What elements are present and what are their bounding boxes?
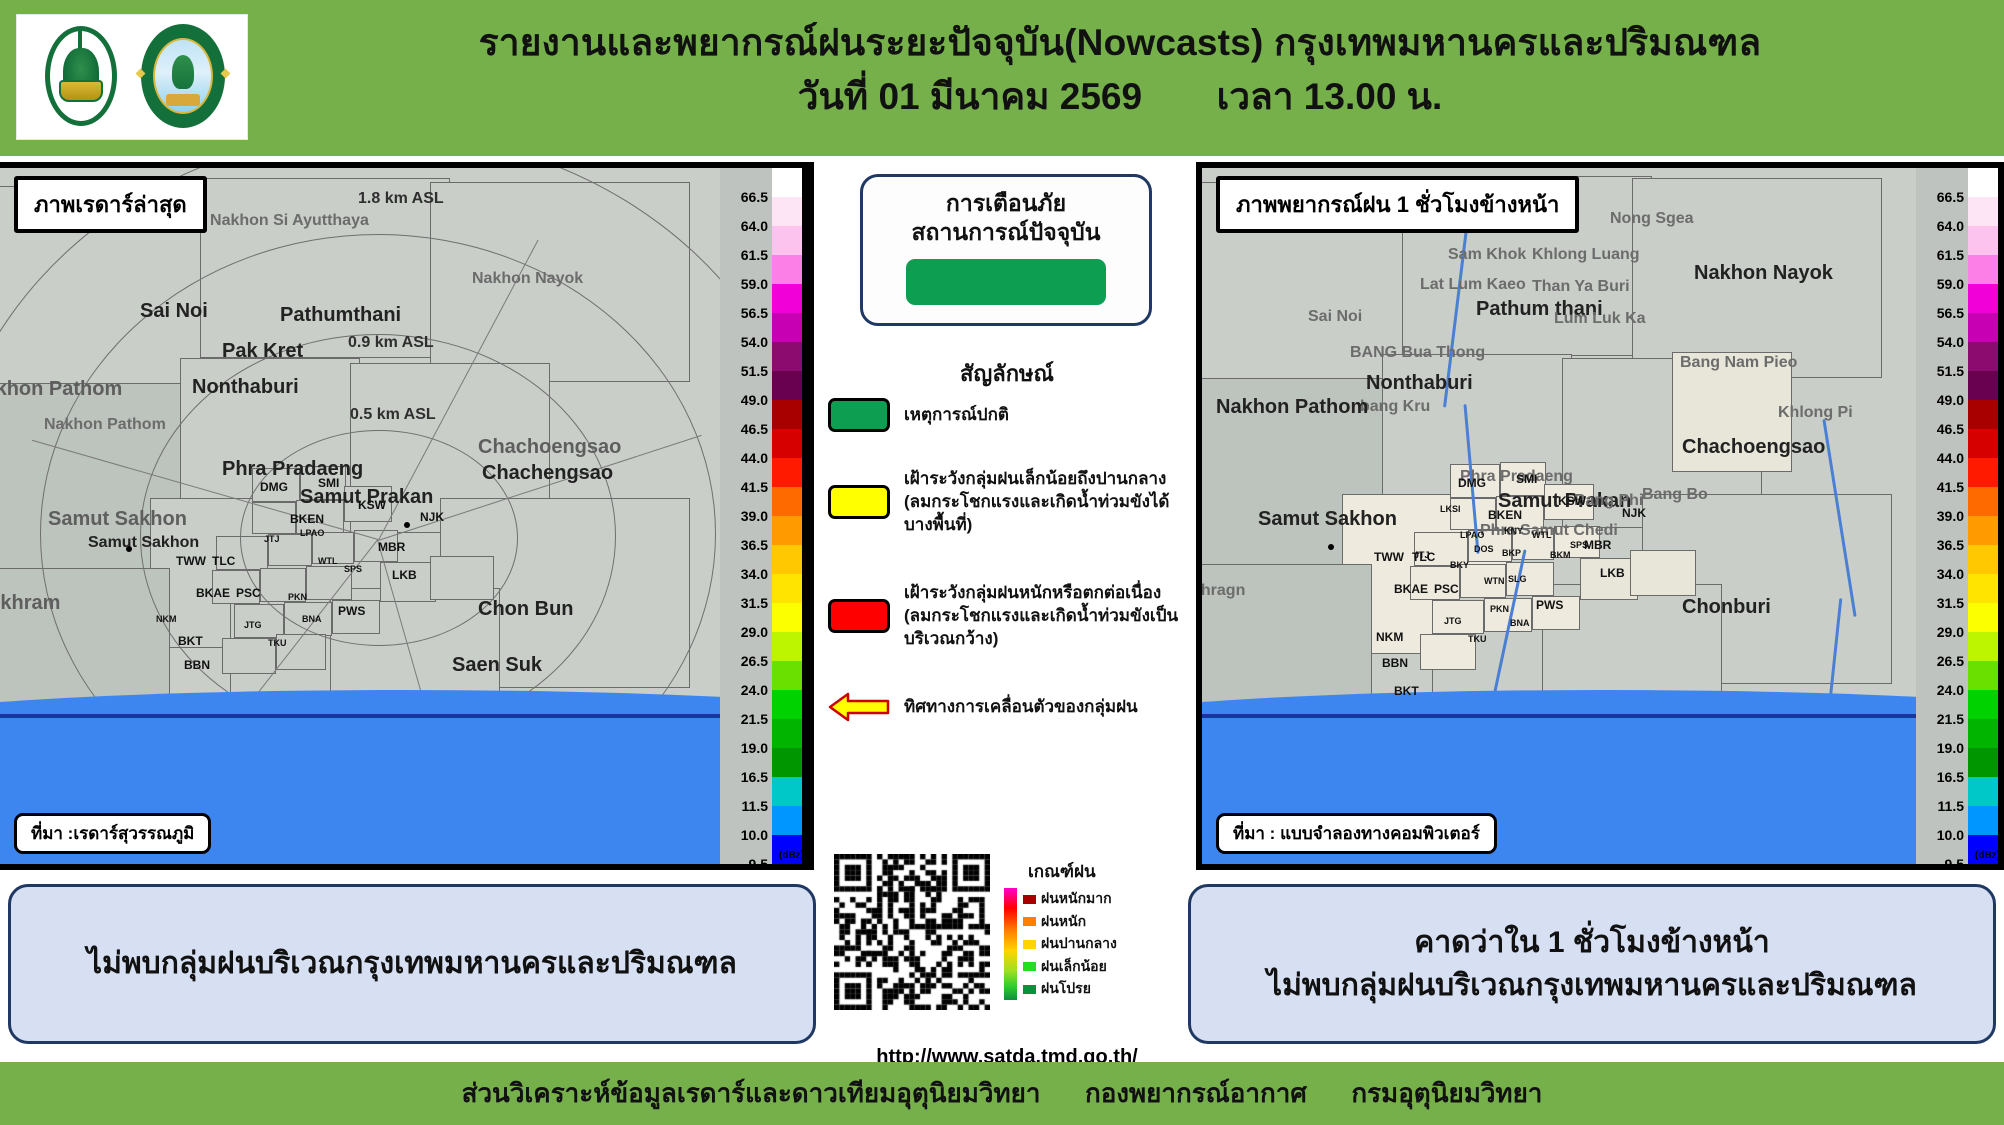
dbz-tick-label: 49.0 [1937, 392, 1964, 408]
dbz-tick-label: 59.0 [741, 276, 768, 292]
forecast-summary-box: คาดว่าใน 1 ชั่วโมงข้างหน้า ไม่พบกลุ่มฝนบ… [1188, 884, 1996, 1044]
dbz-color-band [1968, 545, 1998, 574]
place-label: Chonburi [1682, 596, 1771, 619]
rain-scale-items: ฝนหนักมาก ฝนหนัก ฝนปานกลาง [1023, 888, 1117, 1000]
radar-summary-text: ไม่พบกลุ่มฝนบริเวณกรุงเทพมหานครและปริมณฑ… [87, 942, 737, 986]
green-status-swatch [828, 398, 890, 432]
place-label: BANG Bua Thong [1350, 344, 1485, 362]
place-label: Saen Suk [452, 654, 542, 677]
radar-panel-caption: ภาพเรดาร์ล่าสุด [14, 176, 207, 233]
dbz-color-band [772, 371, 802, 400]
dbz-color-band [1968, 632, 1998, 661]
dbz-tick-label: 46.5 [1937, 421, 1964, 437]
dbz-tick-label: 26.5 [741, 653, 768, 669]
red-status-swatch [828, 599, 890, 633]
dbz-tick-label: 9.5 [749, 856, 768, 870]
district-code: TWW [1374, 550, 1404, 564]
dbz-color-band [772, 574, 802, 603]
place-label: Nakhon Nayok [472, 270, 583, 288]
district-code: SMI [318, 476, 339, 490]
district-code: NKM [1376, 630, 1403, 644]
rain-chip [1023, 985, 1036, 994]
district-code: WTL [1532, 530, 1552, 540]
dbz-tick-label: 61.5 [1937, 247, 1964, 263]
district-code: NKM [156, 614, 177, 624]
dbz-color-band [1968, 603, 1998, 632]
dbz-color-band [1968, 487, 1998, 516]
dbz-tick-label: 11.5 [1938, 798, 1964, 814]
coastline [1202, 714, 2004, 718]
dbz-tick-label: 21.5 [1937, 711, 1964, 727]
dbz-tick-label: 41.5 [1937, 479, 1964, 495]
district-code: TWW [176, 554, 206, 568]
dbz-tick-label: 44.0 [1937, 450, 1964, 466]
dbz-tick-label: 39.0 [1937, 508, 1964, 524]
dbz-color-band [1968, 777, 1998, 806]
district-code: BKY [1450, 560, 1469, 570]
dbz-tick-label: 41.5 [741, 479, 768, 495]
place-label: Nakhon Nayok [1694, 262, 1833, 285]
place-label: Samut Sakhon [88, 534, 199, 552]
legend-item-label: เฝ้าระวังกลุ่มฝนหนักหรือตกต่อเนื่อง (ลมก… [904, 582, 1192, 651]
dbz-tick-label: 29.0 [741, 624, 768, 640]
dbz-tick-label: 64.0 [1937, 218, 1964, 234]
district-code: LPAO [1460, 530, 1484, 540]
dbz-color-band [772, 545, 802, 574]
district-code: DMG [260, 480, 288, 494]
district-code: BNA [1510, 618, 1530, 628]
place-label: Pathumthani [280, 304, 401, 327]
district-code: WTN [1484, 576, 1505, 586]
rain-level-label: ฝนปานกลาง [1041, 933, 1117, 955]
dbz-color-band [1968, 806, 1998, 835]
page-footer: ส่วนวิเคราะห์ข้อมูลเรดาร์และดาวเทียมอุตุ… [0, 1062, 2004, 1125]
district-code: SPS [344, 564, 362, 574]
district-code: TKU [1468, 634, 1487, 644]
dbz-tick-labels: 66.564.061.559.056.554.051.549.046.544.0… [720, 168, 772, 864]
page-title: รายงานและพยากรณ์ฝนระยะปัจจุบัน(Nowcasts)… [260, 20, 1980, 122]
dbz-color-band [772, 806, 802, 835]
district-cell [1630, 550, 1696, 596]
dbz-color-band [772, 197, 802, 226]
place-label: Chachoengsao [1682, 436, 1825, 459]
dbz-color-band [772, 226, 802, 255]
current-warning-card: การเตือนภัย สถานการณ์ปัจจุบัน [860, 174, 1152, 326]
dbz-color-band [772, 690, 802, 719]
city-marker [1328, 544, 1334, 550]
rain-chip [1023, 940, 1036, 949]
dbz-tick-label: 61.5 [741, 247, 768, 263]
district-code: PSC [236, 586, 261, 600]
dbz-tick-label: 19.0 [741, 740, 768, 756]
dbz-tick-label: 34.0 [1937, 566, 1964, 582]
dbz-color-band [1968, 458, 1998, 487]
dbz-tick-label: 46.5 [741, 421, 768, 437]
district-code: BKAE [1394, 582, 1428, 596]
dbz-color-band [772, 777, 802, 806]
district-code: PKN [1490, 604, 1509, 614]
district-code: NJK [420, 510, 444, 524]
district-code: BKT [178, 634, 203, 648]
dbz-tick-label: 34.0 [741, 566, 768, 582]
dbz-color-scale: 66.564.061.559.056.554.051.549.046.544.0… [1916, 168, 2004, 864]
dbz-tick-label: 64.0 [741, 218, 768, 234]
dbz-color-band [772, 429, 802, 458]
city-marker [126, 546, 132, 552]
rain-scale-title: เกณฑ์ฝน [1028, 858, 1192, 885]
district-code: KSW [1558, 494, 1586, 508]
legend-item-label: เฝ้าระวังกลุ่มฝนเล็กน้อยถึงปานกลาง (ลมกร… [904, 468, 1192, 537]
dbz-color-band [1968, 516, 1998, 545]
district-code: BBN [184, 658, 210, 672]
footer-text: ส่วนวิเคราะห์ข้อมูลเรดาร์และดาวเทียมอุตุ… [462, 1073, 1543, 1114]
place-label: khragn [1196, 582, 1245, 600]
radar-panel-source: ที่มา :เรดาร์สุวรรณภูมิ [14, 813, 211, 854]
dbz-tick-label: 10.0 [741, 827, 768, 843]
dbz-tick-label: 16.5 [1937, 769, 1964, 785]
altitude-label: 0.9 km ASL [348, 334, 434, 352]
district-code: TLC [1412, 550, 1435, 564]
city-marker [404, 522, 410, 528]
dbz-unit-label: (dBz) [1975, 850, 2000, 861]
dbz-color-band [772, 603, 802, 632]
district-code: BKEN [1488, 508, 1522, 522]
forecast-panel-source: ที่มา : แบบจำลองทางคอมพิวเตอร์ [1216, 813, 1497, 854]
dbz-color-band [1968, 168, 1998, 197]
legend-item-watch: เฝ้าระวังกลุ่มฝนเล็กน้อยถึงปานกลาง (ลมกร… [828, 468, 1192, 537]
district-code: DOS [1474, 544, 1494, 554]
dbz-color-band [1968, 197, 1998, 226]
rain-scale-item: ฝนหนักมาก [1023, 888, 1117, 910]
dbz-color-band [772, 632, 802, 661]
rain-chip [1023, 895, 1036, 904]
dbz-color-band [1968, 429, 1998, 458]
center-info-column: การเตือนภัย สถานการณ์ปัจจุบัน สัญลักษณ์ … [822, 162, 1192, 1062]
district-code: PKN [288, 592, 307, 602]
footer-part-2: กองพยากรณ์อากาศ [1085, 1078, 1307, 1108]
place-label: Nonthaburi [192, 376, 299, 399]
rain-scale-item: ฝนเล็กน้อย [1023, 956, 1117, 978]
district-code: LKB [392, 568, 417, 582]
dbz-color-band [772, 748, 802, 777]
thai-meteorological-department-seal-icon [135, 22, 231, 132]
qr-and-rain-scale: เกณฑ์ฝน ฝนหนักมาก ฝนหนัก [826, 854, 1192, 1044]
rain-scale-item: ฝนปานกลาง [1023, 933, 1117, 955]
dbz-tick-label: 66.5 [1937, 189, 1964, 205]
forecast-map-panel[interactable]: Suphan Buri Phra Nakhon Si Ayutthaya Non… [1196, 162, 2004, 870]
dbz-tick-label: 24.0 [1937, 682, 1964, 698]
dbz-color-band [1968, 574, 1998, 603]
dbz-color-band [772, 487, 802, 516]
warning-status-badge [906, 259, 1106, 305]
rain-gradient-bar [1004, 888, 1017, 1000]
dbz-tick-label: 56.5 [1937, 305, 1964, 321]
dbz-color-band [772, 719, 802, 748]
place-label: Sai Noi [140, 300, 208, 323]
title-date: วันที่ 01 มีนาคม 2569 [798, 76, 1142, 117]
district-code: PWS [1536, 598, 1563, 612]
dbz-tick-label: 44.0 [741, 450, 768, 466]
forecast-map-surface: Suphan Buri Phra Nakhon Si Ayutthaya Non… [1202, 168, 2004, 864]
district-code: BKEN [290, 512, 324, 526]
dbz-tick-label: 66.5 [741, 189, 768, 205]
dbz-unit-label: (dBz) [779, 850, 804, 861]
dbz-color-band [772, 168, 802, 197]
forecast-panel-caption: ภาพพยากรณ์ฝน 1 ชั่วโมงข้างหน้า [1216, 176, 1579, 233]
district-code: LKB [1600, 566, 1625, 580]
radar-map-surface: 1.8 km ASL 0.9 km ASL 0.5 km ASL Suphan … [0, 168, 808, 864]
district-code: MBR [1584, 538, 1611, 552]
district-code: SMI [1516, 472, 1537, 486]
main-content: 1.8 km ASL 0.9 km ASL 0.5 km ASL Suphan … [0, 156, 2004, 1062]
forecast-summary-line2: ไม่พบกลุ่มฝนบริเวณกรุงเทพมหานครและปริมณฑ… [1267, 964, 1917, 1008]
dbz-color-band [1968, 371, 1998, 400]
district-code: BNA [302, 614, 322, 624]
district-code: PWS [338, 604, 365, 618]
place-label: Nong Sgea [1610, 210, 1694, 228]
dbz-tick-label: 31.5 [1937, 595, 1964, 611]
royal-rainmaking-seal-icon [33, 22, 129, 132]
district-code: LKSI [1440, 504, 1461, 514]
dbz-color-band [1968, 284, 1998, 313]
dbz-tick-label: 51.5 [741, 363, 768, 379]
place-label: Pak Kret [222, 340, 303, 363]
place-label: Phra Pradaeng [222, 458, 363, 481]
district-code: JTG [1444, 616, 1462, 626]
place-label: Khlong Luang [1532, 246, 1640, 264]
dbz-color-band [1968, 719, 1998, 748]
district-code: SLG [1508, 574, 1527, 584]
warning-title-line1: การเตือนภัย [946, 189, 1066, 218]
dbz-tick-labels: 66.564.061.559.056.554.051.549.046.544.0… [1916, 168, 1968, 864]
place-label: Sai Noi [1308, 308, 1362, 326]
dbz-color-band [772, 400, 802, 429]
district-code: PSC [1434, 582, 1459, 596]
dbz-color-band [772, 313, 802, 342]
dbz-color-band [1968, 342, 1998, 371]
dbz-color-band [1968, 226, 1998, 255]
dbz-color-band [772, 458, 802, 487]
place-label: Nakhon Pathom [44, 416, 166, 434]
place-label: Lum Luk Ka [1554, 310, 1646, 328]
page-header: รายงานและพยากรณ์ฝนระยะปัจจุบัน(Nowcasts)… [0, 0, 2004, 156]
legend-item-label: ทิศทางการเคลื่อนตัวของกลุ่มฝน [904, 696, 1138, 719]
dbz-tick-label: 36.5 [741, 537, 768, 553]
place-label: Bang Nam Pieo [1680, 354, 1797, 372]
place-label: Nakhon Pathom [0, 378, 122, 401]
legend-item-normal: เหตุการณ์ปกติ [828, 398, 1192, 432]
district-code: BKP [1502, 548, 1521, 558]
rain-intensity-scale: เกณฑ์ฝน ฝนหนักมาก ฝนหนัก [1004, 858, 1192, 1000]
dbz-tick-label: 54.0 [741, 334, 768, 350]
district-code: BKT [1394, 684, 1419, 698]
rain-scale-item: ฝนหนัก [1023, 911, 1117, 933]
altitude-label: 1.8 km ASL [358, 190, 444, 208]
title-main: รายงานและพยากรณ์ฝนระยะปัจจุบัน(Nowcasts)… [260, 20, 1980, 66]
nowcast-dashboard: รายงานและพยากรณ์ฝนระยะปัจจุบัน(Nowcasts)… [0, 0, 2004, 1125]
place-label: bang Kru [1360, 398, 1430, 416]
radar-map-panel[interactable]: 1.8 km ASL 0.9 km ASL 0.5 km ASL Suphan … [0, 162, 814, 870]
coastline [0, 714, 808, 718]
place-label: Lat Lum Kaeo [1420, 276, 1526, 294]
district-code: JTJ [264, 534, 280, 544]
rain-chip [1023, 962, 1036, 971]
rain-level-label: ฝนหนักมาก [1041, 888, 1112, 910]
legend-item-direction: ทิศทางการเคลื่อนตัวของกลุ่มฝน [828, 690, 1192, 724]
district-code: MBR [378, 540, 405, 554]
dbz-color-strip [772, 168, 802, 864]
place-label: Than Ya Buri [1532, 278, 1630, 296]
forecast-summary-line1: คาดว่าใน 1 ชั่วโมงข้างหน้า [1414, 921, 1769, 965]
district-code: WTL [318, 556, 338, 566]
district-code: BKM [1550, 550, 1571, 560]
dbz-tick-label: 26.5 [1937, 653, 1964, 669]
dbz-tick-label: 51.5 [1937, 363, 1964, 379]
dbz-tick-label: 21.5 [741, 711, 768, 727]
district-code: DMG [1458, 476, 1486, 490]
district-code: KNY [1504, 526, 1523, 536]
radar-summary-box: ไม่พบกลุ่มฝนบริเวณกรุงเทพมหานครและปริมณฑ… [8, 884, 816, 1044]
place-label: Nonthaburi [1366, 372, 1473, 395]
dbz-tick-label: 39.0 [741, 508, 768, 524]
place-label: Samut Sakhon [48, 508, 187, 531]
footer-part-1: ส่วนวิเคราะห์ข้อมูลเรดาร์และดาวเทียมอุตุ… [462, 1078, 1041, 1108]
dbz-color-band [1968, 661, 1998, 690]
place-label: ngkhram [0, 592, 60, 615]
dbz-color-band [772, 342, 802, 371]
dbz-tick-label: 29.0 [1937, 624, 1964, 640]
dbz-color-band [1968, 255, 1998, 284]
dbz-tick-label: 19.0 [1937, 740, 1964, 756]
district-code: LPAO [300, 528, 324, 538]
dbz-color-band [1968, 748, 1998, 777]
district-code: JTG [244, 620, 262, 630]
title-time: เวลา 13.00 น. [1217, 76, 1443, 117]
place-label: Samut Sakhon [1258, 508, 1397, 531]
district-code: NJK [1622, 506, 1646, 520]
dbz-color-band [1968, 400, 1998, 429]
legend-item-severe: เฝ้าระวังกลุ่มฝนหนักหรือตกต่อเนื่อง (ลมก… [828, 582, 1192, 651]
logo-container [16, 14, 248, 140]
dbz-tick-label: 56.5 [741, 305, 768, 321]
dbz-tick-label: 36.5 [1937, 537, 1964, 553]
rain-level-label: ฝนหนัก [1041, 911, 1086, 933]
legend-title: สัญลักษณ์ [822, 356, 1192, 391]
warning-title-line2: สถานการณ์ปัจจุบัน [911, 218, 1100, 247]
title-datetime: วันที่ 01 มีนาคม 2569 เวลา 13.00 น. [260, 72, 1980, 122]
dbz-tick-label: 59.0 [1937, 276, 1964, 292]
dbz-color-band [772, 516, 802, 545]
dbz-color-band [1968, 690, 1998, 719]
altitude-label: 0.5 km ASL [350, 406, 436, 424]
dbz-color-scale: 66.564.061.559.056.554.051.549.046.544.0… [720, 168, 808, 864]
yellow-status-swatch [828, 485, 890, 519]
place-label: Chachoengsao [478, 436, 621, 459]
rain-level-label: ฝนโปรย [1041, 978, 1091, 1000]
district-code: TLC [212, 554, 235, 568]
dbz-tick-label: 11.5 [742, 798, 768, 814]
dbz-tick-label: 54.0 [1937, 334, 1964, 350]
dbz-color-band [772, 284, 802, 313]
district-code: KSW [358, 498, 386, 512]
footer-part-3: กรมอุตุนิยมวิทยา [1351, 1078, 1542, 1108]
dbz-tick-label: 10.0 [1937, 827, 1964, 843]
place-label: Chachengsao [482, 462, 613, 485]
dbz-tick-label: 31.5 [741, 595, 768, 611]
dbz-tick-label: 24.0 [741, 682, 768, 698]
dbz-tick-label: 16.5 [741, 769, 768, 785]
legend-item-label: เหตุการณ์ปกติ [904, 404, 1009, 427]
place-label: Bang Bo [1642, 486, 1708, 504]
place-label: Khlong Pi [1778, 404, 1853, 422]
rain-chip [1023, 917, 1036, 926]
place-label: Sam Khok [1448, 246, 1526, 264]
district-code: BKAE [196, 586, 230, 600]
place-label: Nakhon Pathom [1216, 396, 1368, 419]
district-code: BBN [1382, 656, 1408, 670]
dbz-color-strip [1968, 168, 1998, 864]
place-label: Chon Bun [478, 598, 574, 621]
dbz-color-band [1968, 313, 1998, 342]
movement-arrow-icon [828, 690, 890, 724]
dbz-color-band [772, 255, 802, 284]
dbz-color-band [772, 661, 802, 690]
district-code: TKU [268, 638, 287, 648]
rain-level-label: ฝนเล็กน้อย [1041, 956, 1107, 978]
dbz-tick-label: 9.5 [1945, 856, 1964, 870]
qr-code[interactable] [834, 854, 990, 1010]
dbz-tick-label: 49.0 [741, 392, 768, 408]
rain-scale-item: ฝนโปรย [1023, 978, 1117, 1000]
